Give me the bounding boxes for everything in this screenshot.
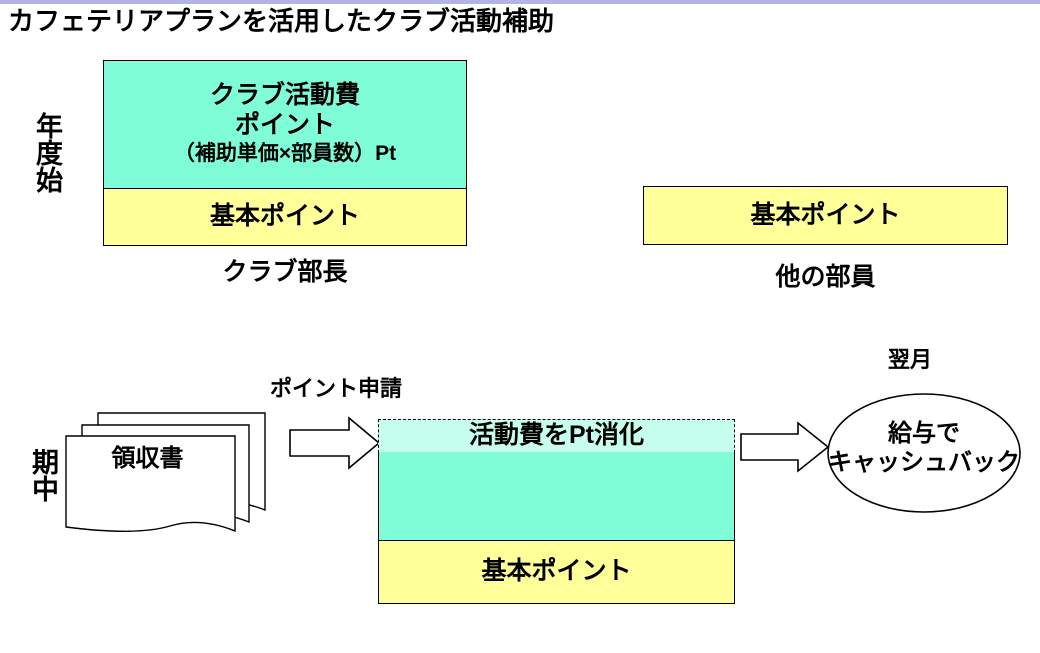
top-accent-bar	[0, 0, 1040, 4]
other-member-basic-point-label: 基本ポイント	[750, 201, 900, 231]
points-consumed-band: 活動費をPt消化	[378, 419, 735, 453]
club-leader-basic-point-label: 基本ポイント	[210, 202, 360, 232]
cashback-line-2: キャッシュバック	[826, 449, 1022, 478]
cashback-ellipse: 給与で キャッシュバック	[826, 392, 1022, 514]
stage-label-year-start: 年度始	[26, 112, 60, 193]
points-basic-label: 基本ポイント	[481, 557, 631, 587]
stage-label-during-period: 期中	[22, 448, 56, 502]
activity-line-1: クラブ活動費	[174, 81, 396, 111]
page-title: カフェテリアプランを活用したクラブ活動補助	[8, 8, 554, 34]
points-consumed-label: 活動費をPt消化	[469, 421, 644, 451]
activity-line-3: （補助単価×部員数）Pt	[174, 140, 396, 167]
club-leader-caption: クラブ部長	[103, 252, 467, 288]
cashback-text: 給与で キャッシュバック	[826, 420, 1022, 478]
club-leader-basic-point-block: 基本ポイント	[103, 188, 467, 246]
receipts-stack-svg	[60, 405, 290, 550]
arrow-receipts-to-points	[289, 417, 381, 469]
club-leader-activity-point-block: クラブ活動費 ポイント （補助単価×部員数）Pt	[103, 60, 467, 189]
receipts-stack: 領収書	[60, 405, 290, 550]
other-member-basic-point-block: 基本ポイント	[643, 186, 1008, 245]
cashback-line-1: 給与で	[826, 420, 1022, 449]
arrow-points-to-cashback	[740, 422, 830, 472]
other-member-caption: 他の部員	[643, 257, 1008, 293]
block-arrow-right-icon	[289, 417, 381, 469]
point-application-label: ポイント申請	[270, 371, 402, 403]
diagram-canvas: カフェテリアプランを活用したクラブ活動補助 年度始 クラブ活動費 ポイント （補…	[0, 0, 1040, 653]
next-month-label: 翌月	[888, 342, 932, 374]
block-arrow-right-icon-2	[740, 422, 830, 472]
club-leader-activity-point-text: クラブ活動費 ポイント （補助単価×部員数）Pt	[174, 81, 396, 167]
activity-line-2: ポイント	[174, 111, 396, 141]
points-remaining-band	[378, 452, 735, 541]
points-basic-band: 基本ポイント	[378, 541, 735, 604]
receipts-label: 領収書	[60, 438, 235, 473]
